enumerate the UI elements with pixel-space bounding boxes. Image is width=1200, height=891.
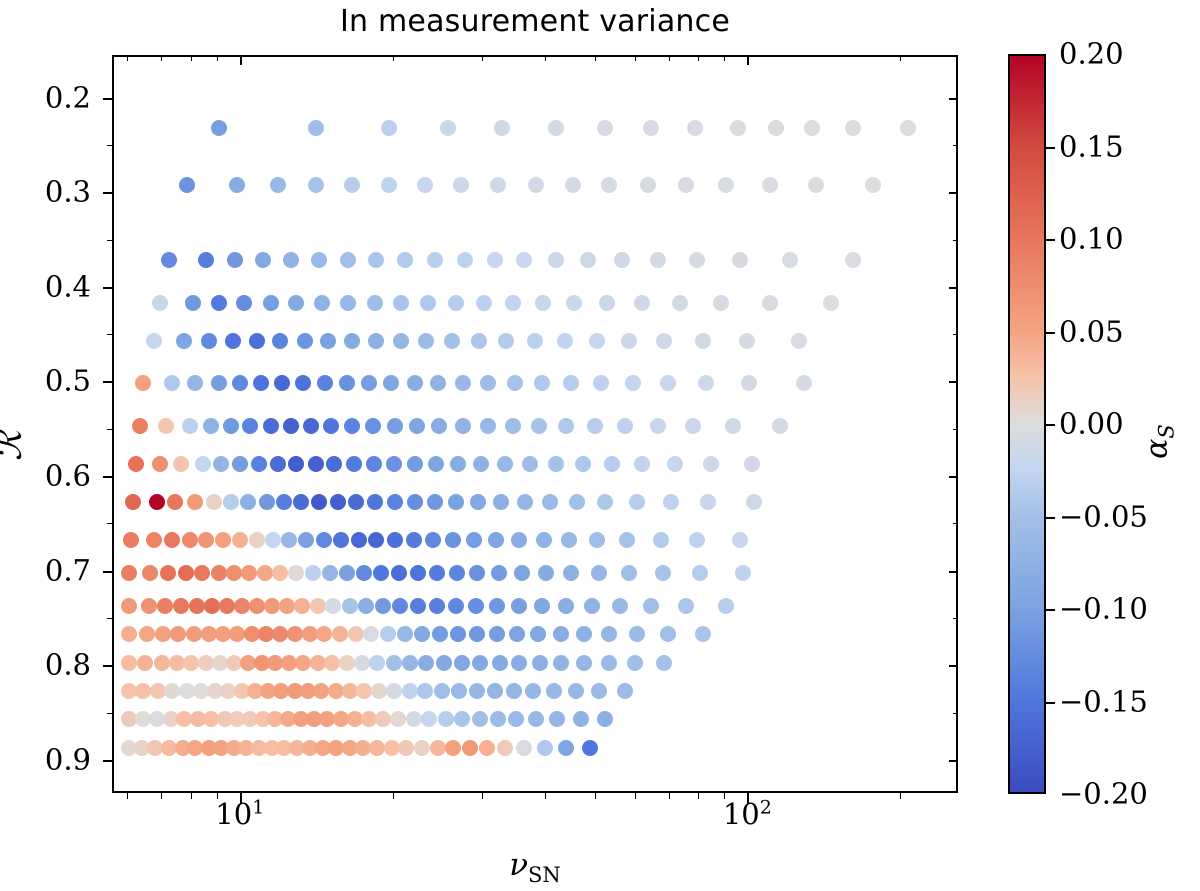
- scatter-point: [361, 375, 377, 391]
- scatter-point: [530, 626, 546, 642]
- x-axis-minor-tick: [393, 793, 394, 799]
- scatter-point: [288, 565, 304, 581]
- scatter-point: [227, 252, 243, 268]
- scatter-point: [735, 565, 751, 581]
- y-axis-tick-label: 0.9: [45, 745, 91, 774]
- scatter-point: [741, 375, 757, 391]
- scatter-point: [368, 252, 384, 268]
- y-axis-tick-mark: [949, 571, 958, 573]
- scatter-point: [589, 333, 605, 349]
- y-axis-tick-label: 0.7: [45, 556, 91, 585]
- scatter-point: [308, 177, 324, 193]
- scatter-point: [187, 494, 203, 510]
- scatter-point: [591, 683, 607, 699]
- scatter-point: [333, 532, 349, 548]
- scatter-point: [672, 295, 688, 311]
- scatter-point: [678, 177, 694, 193]
- scatter-point: [279, 598, 295, 614]
- scatter-point: [627, 655, 643, 671]
- scatter-point: [566, 295, 582, 311]
- scatter-point: [414, 626, 430, 642]
- scatter-point: [132, 418, 148, 434]
- scatter-point: [421, 711, 437, 727]
- scatter-point: [146, 333, 162, 349]
- y-axis-minor-tick: [953, 145, 958, 146]
- scatter-point: [448, 295, 464, 311]
- scatter-point: [121, 565, 137, 581]
- scatter-point: [391, 565, 407, 581]
- scatter-point: [420, 295, 436, 311]
- scatter-point: [617, 683, 633, 699]
- scatter-point: [232, 456, 248, 472]
- scatter-point: [689, 532, 705, 548]
- scatter-point: [434, 683, 450, 699]
- scatter-point: [469, 683, 485, 699]
- scatter-point: [535, 295, 551, 311]
- scatter-point: [219, 598, 235, 614]
- scatter-point: [432, 626, 448, 642]
- scatter-point: [732, 252, 748, 268]
- scatter-point: [206, 494, 222, 510]
- scatter-point: [469, 626, 485, 642]
- scatter-point: [201, 333, 217, 349]
- y-axis-minor-tick: [107, 713, 112, 714]
- scatter-point: [417, 683, 433, 699]
- scatter-point: [308, 456, 324, 472]
- scatter-point: [348, 494, 364, 510]
- scatter-point: [703, 456, 719, 472]
- y-axis-tick-mark: [103, 476, 112, 478]
- scatter-point: [473, 456, 489, 472]
- scatter-point: [340, 295, 356, 311]
- scatter-point: [283, 252, 299, 268]
- scatter-point: [472, 711, 488, 727]
- scatter-point: [187, 375, 203, 391]
- scatter-point: [264, 598, 280, 614]
- x-axis-minor-tick: [393, 55, 394, 61]
- scatter-point: [229, 177, 245, 193]
- y-axis-tick-label: 0.6: [45, 462, 91, 491]
- scatter-point: [164, 375, 180, 391]
- scatter-point: [689, 252, 705, 268]
- scatter-point: [497, 456, 513, 472]
- scatter-point: [274, 375, 290, 391]
- scatter-point: [591, 565, 607, 581]
- y-axis-tick-label: 0.3: [45, 178, 91, 207]
- scatter-point: [450, 626, 466, 642]
- scatter-point: [339, 565, 355, 581]
- scatter-point: [457, 252, 473, 268]
- scatter-point: [154, 655, 170, 671]
- scatter-point: [155, 626, 171, 642]
- colorbar-tick-mark: [1046, 332, 1055, 334]
- scatter-point: [491, 565, 507, 581]
- scatter-point: [170, 626, 186, 642]
- x-axis-minor-tick: [724, 55, 725, 61]
- colorbar-tick-label: −0.10: [1059, 595, 1148, 624]
- x-axis-minor-tick: [217, 55, 218, 61]
- x-axis-minor-tick: [545, 793, 546, 799]
- scatter-point: [317, 375, 333, 391]
- scatter-point: [660, 626, 676, 642]
- scatter-point: [178, 565, 194, 581]
- scatter-point: [406, 711, 422, 727]
- scatter-point: [558, 740, 574, 756]
- x-axis-minor-tick: [482, 55, 483, 61]
- scatter-point: [663, 494, 679, 510]
- scatter-point: [584, 598, 600, 614]
- scatter-point: [660, 375, 676, 391]
- scatter-point: [272, 626, 288, 642]
- scatter-point: [135, 683, 151, 699]
- y-axis-tick-label: 0.8: [45, 651, 91, 680]
- scatter-point: [517, 494, 533, 510]
- scatter-point: [489, 626, 505, 642]
- scatter-point: [563, 375, 579, 391]
- scatter-point: [204, 598, 220, 614]
- scatter-point: [387, 418, 403, 434]
- scatter-point: [135, 375, 151, 391]
- y-axis-minor-tick: [953, 334, 958, 335]
- scatter-point: [189, 598, 205, 614]
- scatter-point: [201, 626, 217, 642]
- scatter-point: [845, 252, 861, 268]
- colorbar-tick-label: 0.00: [1059, 410, 1124, 439]
- scatter-point: [288, 295, 304, 311]
- scatter-point: [490, 711, 506, 727]
- scatter-point: [121, 598, 137, 614]
- scatter-point: [232, 375, 248, 391]
- scatter-point: [410, 598, 426, 614]
- scatter-point: [225, 333, 241, 349]
- scatter-point: [634, 456, 650, 472]
- scatter-point: [161, 252, 177, 268]
- scatter-point: [263, 418, 279, 434]
- scatter-point: [183, 655, 199, 671]
- scatter-point: [445, 532, 461, 548]
- scatter-point: [678, 598, 694, 614]
- scatter-point: [142, 565, 158, 581]
- y-axis-tick-mark: [949, 760, 958, 762]
- scatter-point: [865, 177, 881, 193]
- x-axis-minor-tick: [161, 793, 162, 799]
- colorbar-tick-label: −0.05: [1059, 502, 1148, 531]
- scatter-point: [768, 120, 784, 136]
- scatter-point: [152, 295, 168, 311]
- scatter-point: [182, 418, 198, 434]
- x-axis-title-sub: SN: [528, 863, 561, 887]
- y-axis-minor-tick: [953, 523, 958, 524]
- scatter-point: [429, 565, 445, 581]
- scatter-point: [601, 177, 617, 193]
- scatter-point: [322, 565, 338, 581]
- scatter-point: [587, 418, 603, 434]
- scatter-point: [255, 252, 271, 268]
- scatter-point: [176, 333, 192, 349]
- scatter-point: [164, 532, 180, 548]
- scatter-point: [427, 252, 443, 268]
- scatter-point: [469, 565, 485, 581]
- scatter-point: [744, 456, 760, 472]
- scatter-point: [430, 740, 446, 756]
- scatter-point: [472, 655, 488, 671]
- scatter-point: [604, 456, 620, 472]
- scatter-point: [597, 711, 613, 727]
- scatter-point: [762, 295, 778, 311]
- scatter-point: [407, 375, 423, 391]
- scatter-point: [302, 626, 318, 642]
- scatter-point: [718, 598, 734, 614]
- scatter-point: [303, 418, 319, 434]
- scatter-point: [325, 598, 341, 614]
- scatter-point: [791, 333, 807, 349]
- scatter-point: [414, 740, 430, 756]
- y-axis-tick-mark: [103, 192, 112, 194]
- scatter-point: [351, 532, 367, 548]
- scatter-point: [249, 598, 265, 614]
- scatter-point: [249, 532, 265, 548]
- scatter-point: [323, 418, 339, 434]
- scatter-point: [497, 740, 513, 756]
- scatter-point: [157, 598, 173, 614]
- scatter-point: [380, 626, 396, 642]
- scatter-point: [698, 375, 714, 391]
- y-axis-tick-mark: [949, 192, 958, 194]
- page-title: In measurement variance: [112, 4, 958, 39]
- plot-area: [112, 55, 958, 793]
- scatter-point: [158, 418, 174, 434]
- scatter-point: [241, 565, 257, 581]
- scatter-point: [431, 418, 447, 434]
- scatter-point: [410, 565, 426, 581]
- scatter-point: [194, 565, 210, 581]
- x-axis-tick-label: 102: [723, 800, 772, 829]
- y-axis-tick-mark: [949, 476, 958, 478]
- x-axis-minor-tick: [217, 793, 218, 799]
- scatter-point: [369, 655, 385, 671]
- scatter-point: [695, 333, 711, 349]
- scatter-point: [713, 295, 729, 311]
- colorbar-title: αS: [1140, 424, 1175, 459]
- scatter-point: [283, 418, 299, 434]
- scatter-point: [553, 655, 569, 671]
- scatter-point: [311, 494, 327, 510]
- scatter-point: [505, 295, 521, 311]
- scatter-point: [656, 655, 672, 671]
- x-axis-minor-tick: [161, 55, 162, 61]
- scatter-point: [534, 375, 550, 391]
- scatter-point: [342, 598, 358, 614]
- x-axis-minor-tick: [595, 55, 596, 61]
- scatter-point: [593, 375, 609, 391]
- scatter-point: [454, 655, 470, 671]
- scatter-point: [418, 333, 434, 349]
- scatter-point: [397, 252, 413, 268]
- scatter-point: [634, 295, 650, 311]
- scatter-point: [402, 683, 418, 699]
- scatter-point: [240, 494, 256, 510]
- scatter-point: [375, 711, 391, 727]
- scatter-point: [650, 418, 666, 434]
- scatter-point: [548, 120, 564, 136]
- scatter-point: [139, 626, 155, 642]
- y-axis-tick-mark: [949, 98, 958, 100]
- x-axis-minor-tick: [900, 793, 901, 799]
- y-axis-minor-tick: [107, 618, 112, 619]
- scatter-point: [316, 626, 332, 642]
- scatter-point: [393, 333, 409, 349]
- scatter-point: [223, 418, 239, 434]
- scatter-point: [295, 655, 311, 671]
- scatter-point: [522, 456, 538, 472]
- scatter-point: [305, 565, 321, 581]
- y-axis-tick-mark: [949, 287, 958, 289]
- scatter-point: [344, 418, 360, 434]
- scatter-point: [137, 655, 153, 671]
- scatter-point: [179, 177, 195, 193]
- scatter-point: [575, 456, 591, 472]
- scatter-point: [553, 626, 569, 642]
- colorbar-tick-label: 0.15: [1059, 132, 1124, 161]
- colorbar-tick-mark: [1046, 147, 1055, 149]
- scatter-point: [494, 120, 510, 136]
- scatter-point: [444, 333, 460, 349]
- scatter-point: [621, 333, 637, 349]
- scatter-point: [782, 252, 798, 268]
- colorbar-tick-mark: [1046, 609, 1055, 611]
- scatter-point: [565, 177, 581, 193]
- scatter-point: [542, 494, 558, 510]
- scatter-point: [516, 252, 532, 268]
- scatter-point: [514, 565, 530, 581]
- scatter-point: [557, 333, 573, 349]
- scatter-point: [259, 494, 275, 510]
- scatter-point: [316, 532, 332, 548]
- scatter-point: [453, 177, 469, 193]
- scatter-point: [272, 333, 288, 349]
- x-axis-minor-tick: [724, 793, 725, 799]
- scatter-point: [576, 626, 592, 642]
- x-axis-tick-mark: [240, 55, 242, 65]
- scatter-point: [298, 532, 314, 548]
- colorbar-gradient: [1010, 56, 1044, 792]
- scatter-point: [311, 252, 327, 268]
- scatter-point: [428, 456, 444, 472]
- scatter-point: [509, 626, 525, 642]
- scatter-point: [392, 598, 408, 614]
- scatter-point: [387, 494, 403, 510]
- scatter-point: [152, 456, 168, 472]
- scatter-point: [538, 565, 554, 581]
- scatter-point: [365, 418, 381, 434]
- scatter-point: [466, 532, 482, 548]
- scatter-point: [511, 598, 527, 614]
- scatter-point: [386, 655, 402, 671]
- scatter-point: [195, 456, 211, 472]
- scatter-point: [617, 418, 633, 434]
- scatter-point: [687, 120, 703, 136]
- scatter-point: [386, 456, 402, 472]
- scatter-point: [211, 120, 227, 136]
- scatter-point: [366, 456, 382, 472]
- scatter-point: [371, 683, 387, 699]
- scatter-point: [653, 532, 669, 548]
- scatter-point: [149, 494, 165, 510]
- x-axis-minor-tick: [191, 55, 192, 61]
- scatter-point: [339, 375, 355, 391]
- scatter-point: [479, 740, 495, 756]
- scatter-point: [445, 740, 461, 756]
- y-axis-title: ℛ: [0, 431, 30, 461]
- scatter-point: [796, 375, 812, 391]
- x-axis-title-base: ν: [509, 847, 528, 883]
- x-axis-minor-tick: [669, 793, 670, 799]
- scatter-point: [186, 626, 202, 642]
- y-axis-tick-label: 0.5: [45, 367, 91, 396]
- y-axis-minor-tick: [953, 429, 958, 430]
- scatter-point: [629, 494, 645, 510]
- scatter-point: [739, 333, 755, 349]
- scatter-point: [762, 177, 778, 193]
- scatter-point: [348, 626, 364, 642]
- scatter-point: [383, 375, 399, 391]
- scatter-point: [229, 626, 245, 642]
- scatter-point: [685, 418, 701, 434]
- scatter-point: [198, 532, 214, 548]
- scatter-point: [344, 333, 360, 349]
- scatter-point: [253, 375, 269, 391]
- scatter-point: [386, 683, 402, 699]
- colorbar-tick-mark: [1046, 424, 1055, 426]
- scatter-point: [440, 120, 456, 136]
- scatter-point: [236, 295, 252, 311]
- scatter-point: [507, 375, 523, 391]
- y-axis-minor-tick: [107, 334, 112, 335]
- scatter-point: [367, 494, 383, 510]
- scatter-point: [546, 683, 562, 699]
- scatter-point: [425, 532, 441, 548]
- scatter-point: [563, 565, 579, 581]
- scatter-point: [561, 532, 577, 548]
- colorbar[interactable]: [1008, 54, 1046, 794]
- x-axis-minor-tick: [127, 793, 128, 799]
- scatter-point: [537, 740, 553, 756]
- scatter-point: [536, 532, 552, 548]
- scatter-point: [406, 532, 422, 548]
- colorbar-title-base: α: [1140, 439, 1175, 459]
- y-axis-minor-tick: [107, 240, 112, 241]
- colorbar-tick-mark: [1046, 517, 1055, 519]
- scatter-point: [692, 565, 708, 581]
- scatter-point: [249, 333, 265, 349]
- scatter-point: [531, 418, 547, 434]
- scatter-point: [213, 456, 229, 472]
- scatter-point: [409, 418, 425, 434]
- scatter-point: [330, 494, 346, 510]
- x-axis-minor-tick: [698, 55, 699, 61]
- scatter-point: [462, 740, 478, 756]
- scatter-point: [211, 295, 227, 311]
- scatter-point: [375, 598, 391, 614]
- scatter-point: [455, 418, 471, 434]
- scatter-point: [454, 711, 470, 727]
- scatter-point: [393, 295, 409, 311]
- scatter-point: [455, 375, 471, 391]
- scatter-point: [340, 252, 356, 268]
- x-axis-minor-tick: [698, 793, 699, 799]
- scatter-point: [141, 598, 157, 614]
- scatter-point: [528, 711, 544, 727]
